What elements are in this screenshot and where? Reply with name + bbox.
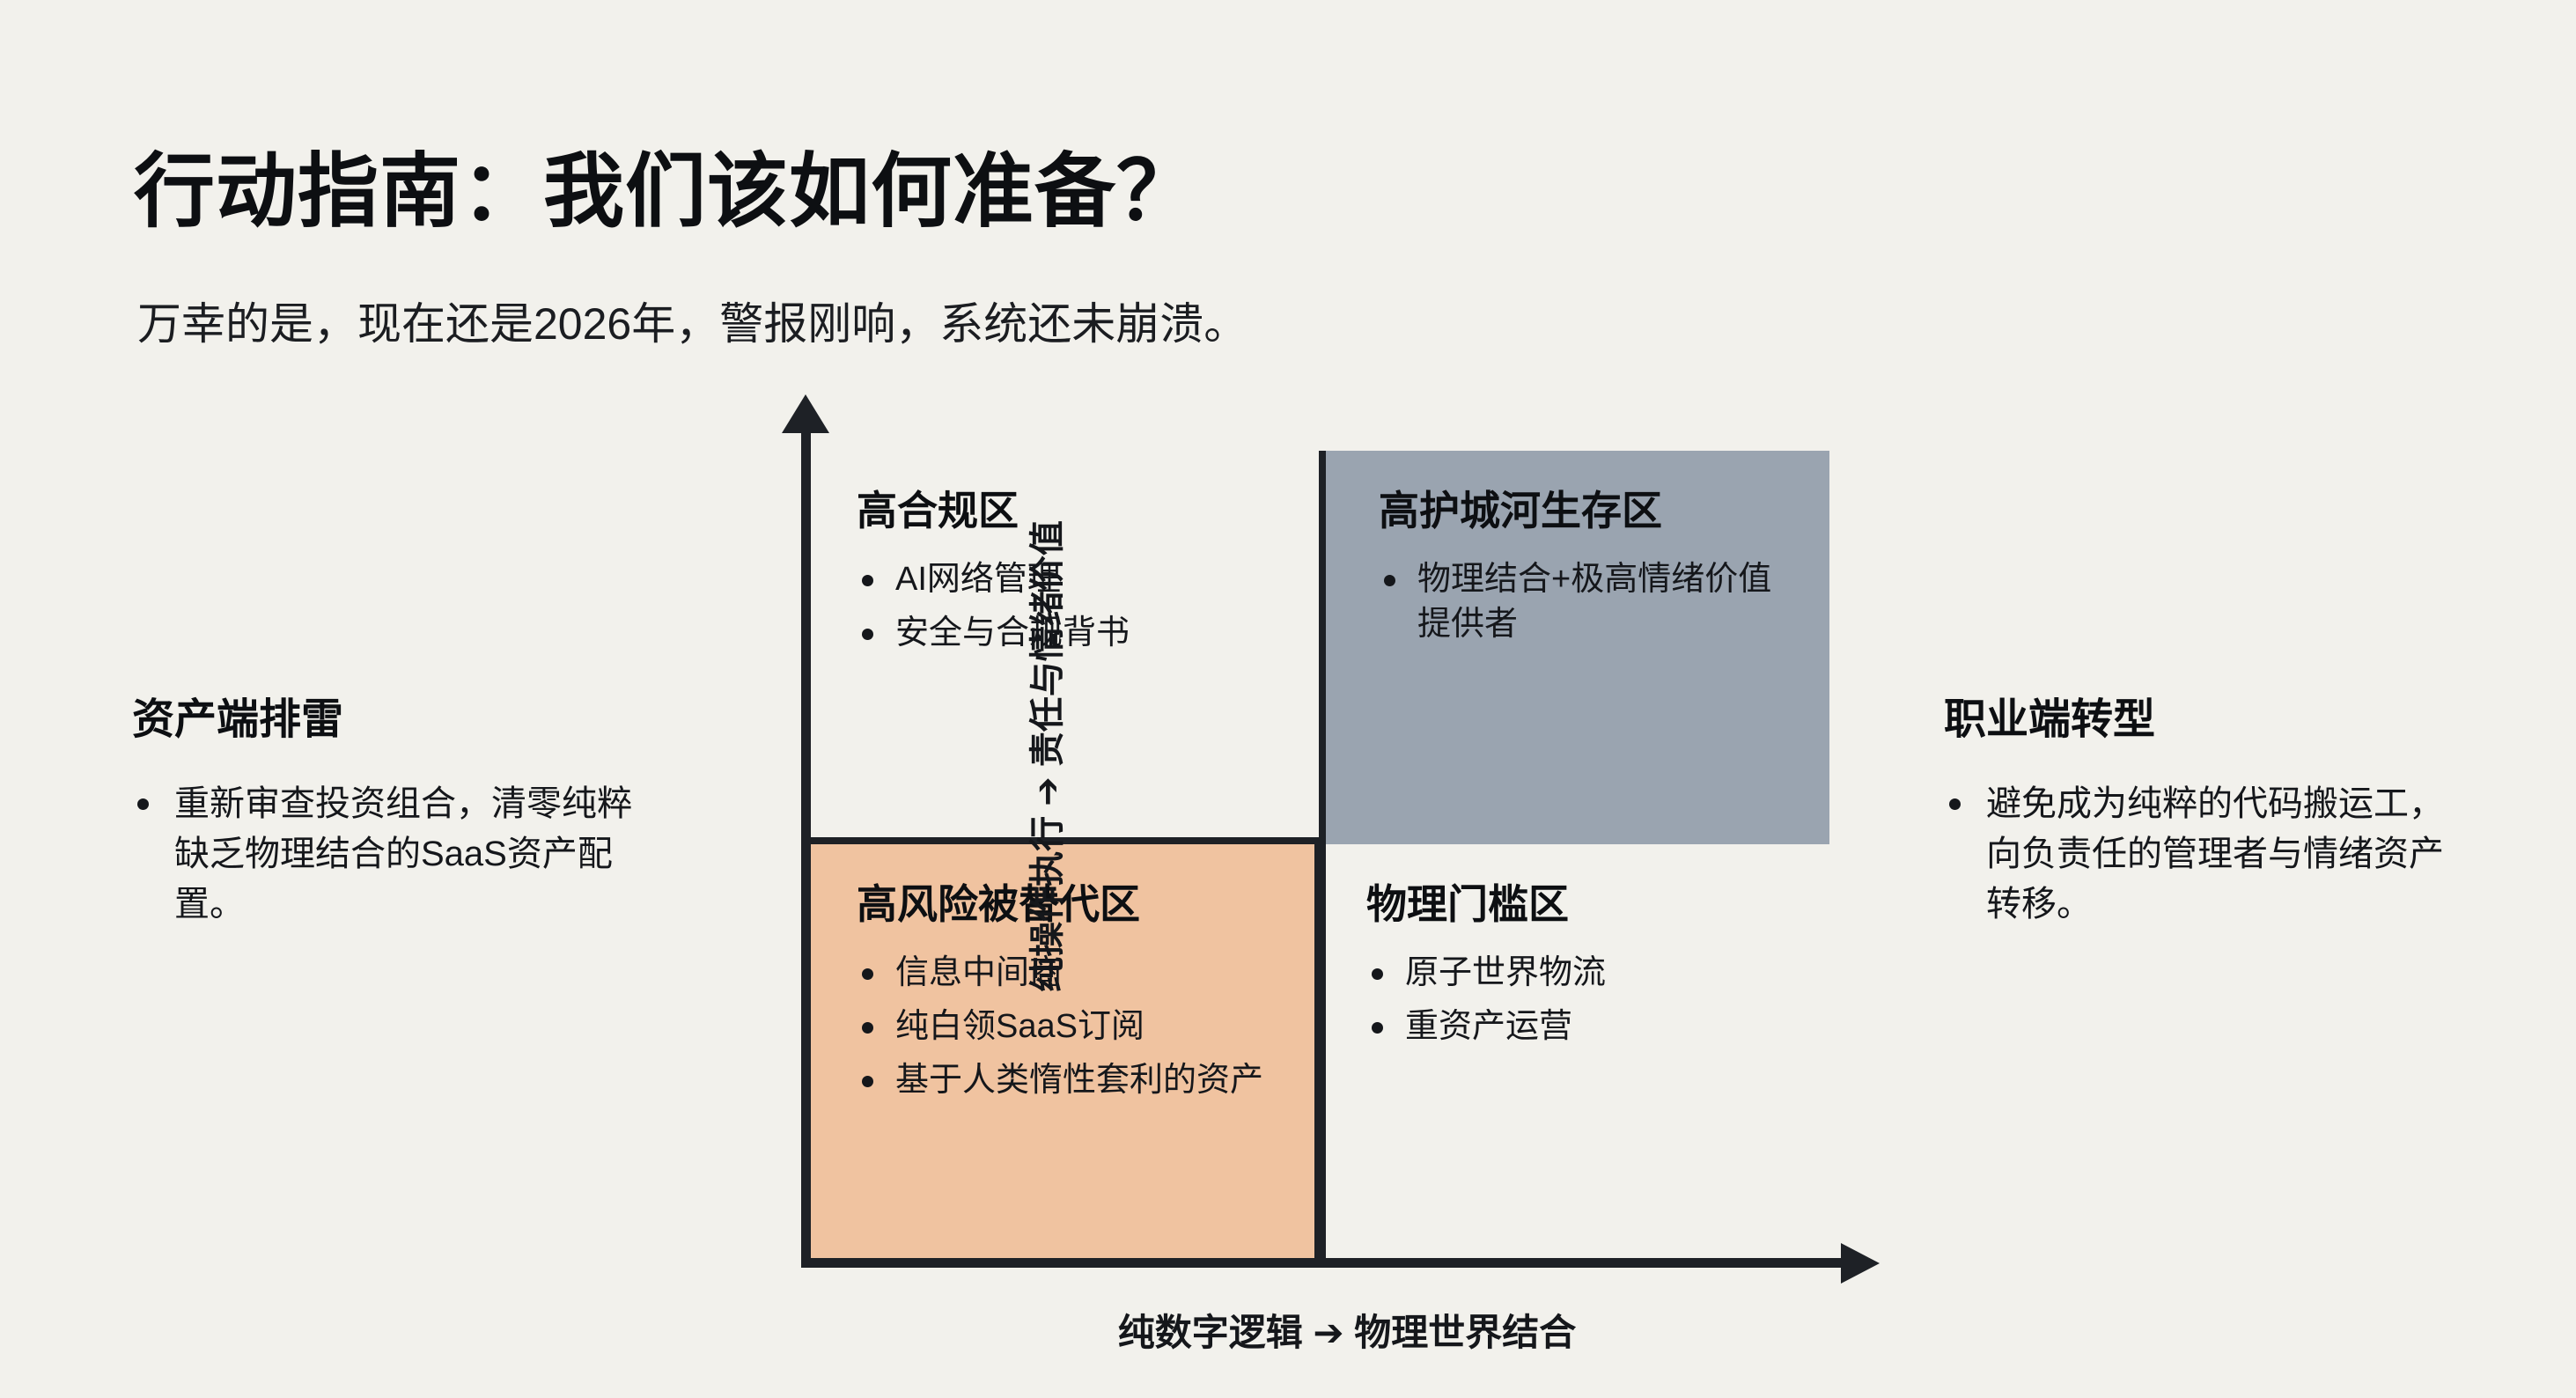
list-item: 避免成为纯粹的代码搬运工，向负责任的管理者与情绪资产转移。: [1944, 779, 2463, 929]
slide-canvas: 行动指南：我们该如何准备？ 万幸的是，现在还是2026年，警报刚响，系统还未崩溃…: [0, 0, 2576, 1398]
list-item: 信息中间商: [857, 951, 1288, 996]
side-panel-title: 资产端排雷: [132, 695, 660, 744]
y-axis-label: 纯操作执行 ➔ 责任与情绪价值: [1019, 404, 1070, 1108]
side-panel-asset-demining: 资产端排雷 重新审查投资组合，清零纯粹缺乏物理结合的SaaS资产配置。: [132, 695, 660, 938]
x-axis-label: 纯数字逻辑 ➔ 物理世界结合: [872, 1303, 1822, 1357]
two-by-two-matrix: 高合规区 AI网络管理 安全与合规背书 高护城河生存区 物理结合+极高情绪价值提…: [775, 387, 1893, 1285]
list-item: 重资产运营: [1366, 1004, 1803, 1049]
x-axis-line: [801, 1258, 1851, 1268]
side-panel-career-transition: 职业端转型 避免成为纯粹的代码搬运工，向负责任的管理者与情绪资产转移。: [1944, 695, 2463, 938]
list-item: 纯白领SaaS订阅: [857, 1004, 1288, 1049]
quadrant-title: 高合规区: [857, 488, 1292, 534]
y-axis-arrow-icon: [782, 394, 829, 433]
x-axis-arrow-icon: [1841, 1243, 1880, 1284]
quadrant-title: 高护城河生存区: [1379, 488, 1803, 534]
y-axis-line: [801, 424, 811, 1268]
quadrant-title: 高风险被替代区: [857, 881, 1288, 928]
list-item: 重新审查投资组合，清零纯粹缺乏物理结合的SaaS资产配置。: [132, 779, 660, 929]
quadrant-title: 物理门槛区: [1366, 881, 1803, 928]
list-item: 安全与合规背书: [857, 611, 1292, 656]
quadrant-bullet-list: 信息中间商 纯白领SaaS订阅 基于人类惰性套利的资产: [857, 951, 1288, 1103]
side-panel-title: 职业端转型: [1944, 695, 2463, 744]
list-item: 基于人类惰性套利的资产: [857, 1058, 1288, 1103]
list-item: 物理结合+极高情绪价值提供者: [1379, 557, 1803, 647]
quadrant-physical-threshold: 物理门槛区 原子世界物流 重资产运营: [1326, 844, 1829, 1258]
quadrant-bullet-list: 物理结合+极高情绪价值提供者: [1379, 557, 1803, 647]
list-item: 原子世界物流: [1366, 951, 1803, 996]
quadrant-high-moat-survival: 高护城河生存区 物理结合+极高情绪价值提供者: [1319, 451, 1829, 844]
quadrant-bullet-list: AI网络管理 安全与合规背书: [857, 557, 1292, 656]
quadrant-bullet-list: 原子世界物流 重资产运营: [1366, 951, 1803, 1049]
page-title: 行动指南：我们该如何准备？: [134, 150, 1198, 235]
page-subtitle: 万幸的是，现在还是2026年，警报刚响，系统还未崩溃。: [137, 298, 1248, 350]
side-panel-bullet-list: 避免成为纯粹的代码搬运工，向负责任的管理者与情绪资产转移。: [1944, 779, 2463, 929]
list-item: AI网络管理: [857, 557, 1292, 602]
side-panel-bullet-list: 重新审查投资组合，清零纯粹缺乏物理结合的SaaS资产配置。: [132, 779, 660, 929]
